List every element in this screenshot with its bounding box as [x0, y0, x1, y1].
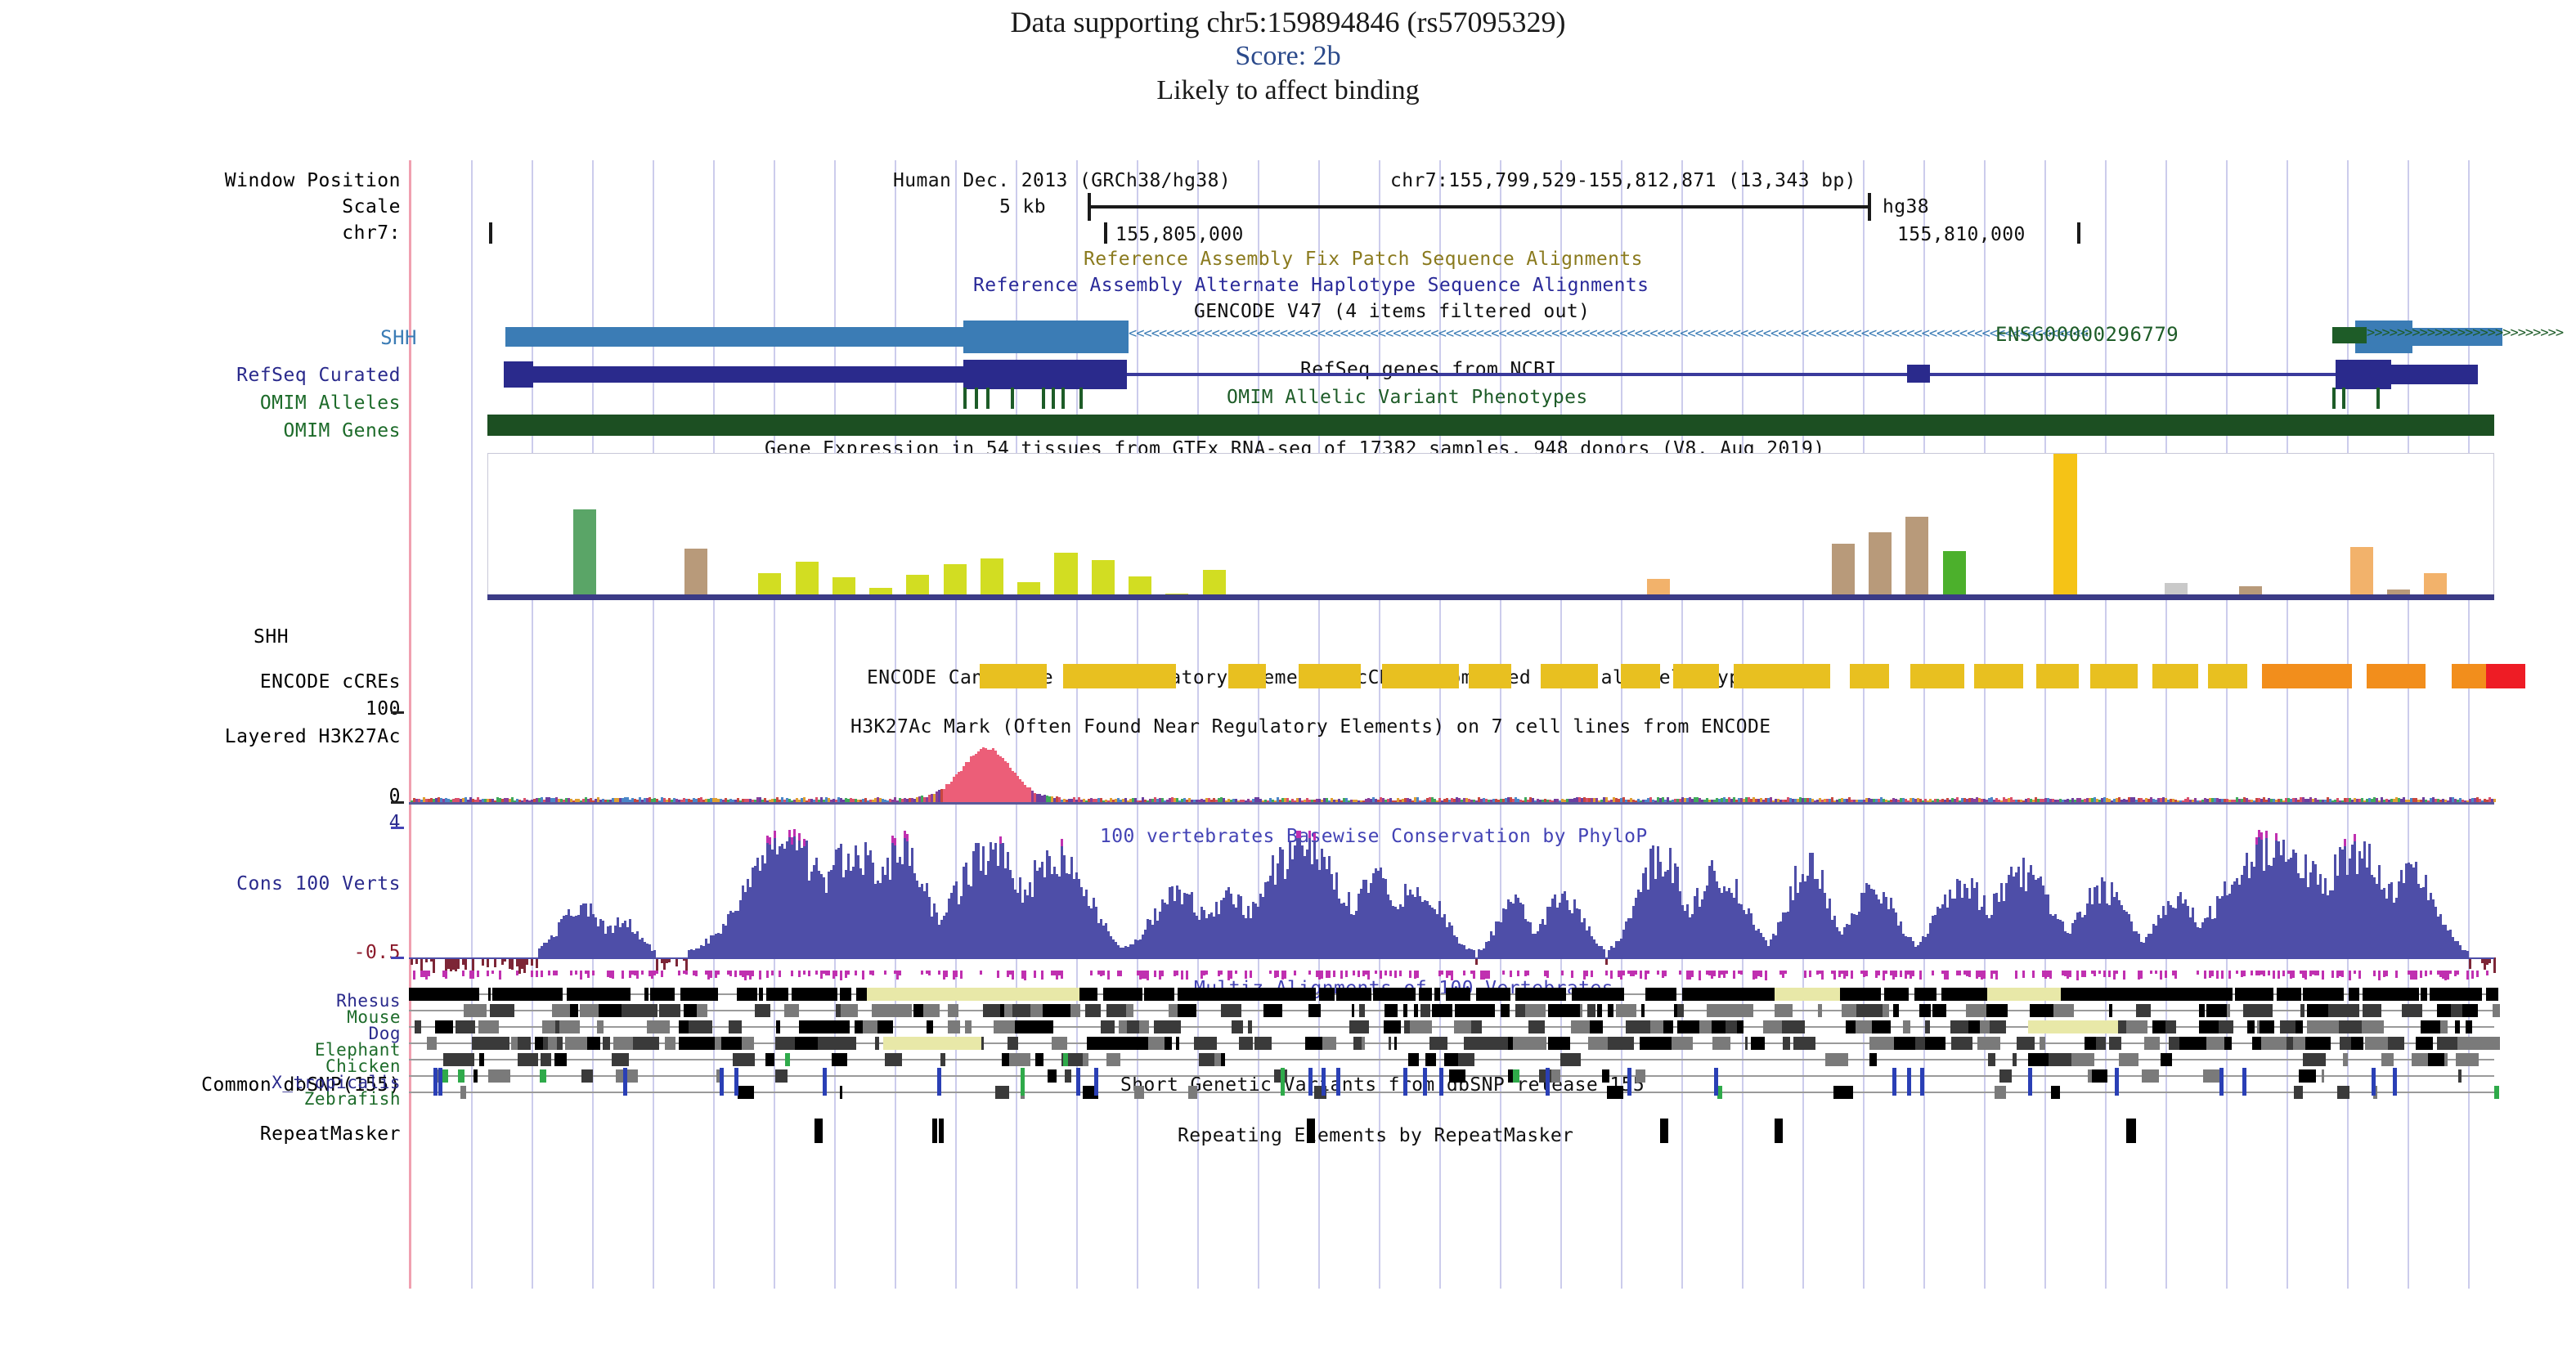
multiz-alignment-block — [2252, 1037, 2261, 1050]
dbsnp-variant-tick[interactable] — [937, 1068, 941, 1096]
gtex-bar[interactable] — [1832, 544, 1855, 599]
label-omim-genes[interactable]: OMIM Genes — [8, 420, 401, 442]
multiz-alignment-block — [1501, 1004, 1510, 1017]
multiz-alignment-block — [679, 1020, 689, 1033]
multiz-frame-marker — [442, 1069, 448, 1083]
multiz-alignment-block — [775, 1037, 795, 1050]
dbsnp-variant-tick[interactable] — [1892, 1068, 1896, 1096]
conservation-magenta-tick — [779, 971, 781, 977]
conservation-magenta-tick — [548, 971, 550, 975]
dbsnp-variant-tick[interactable] — [433, 1068, 438, 1096]
conservation-magenta-tick — [710, 971, 712, 978]
ccre-element[interactable] — [2367, 664, 2426, 688]
multiz-alignment-block — [2040, 1004, 2053, 1017]
multiz-alignment-block — [2440, 1020, 2448, 1033]
multiz-insert-highlight — [883, 1037, 981, 1050]
multiz-alignment-block — [733, 1053, 755, 1066]
multiz-alignment-block — [1572, 988, 1588, 1001]
ccre-element[interactable] — [1910, 664, 1964, 688]
multiz-alignment-block — [548, 1037, 557, 1050]
multiz-alignment-block — [801, 988, 821, 1001]
dbsnp-variant-tick[interactable] — [734, 1068, 738, 1096]
dbsnp-variant-tick[interactable] — [1714, 1068, 1718, 1096]
multiz-alignment-block — [1999, 1069, 2012, 1083]
conservation-cap — [769, 837, 771, 845]
omim-allele-tick[interactable] — [1042, 388, 1045, 409]
multiz-alignment-block — [1221, 1053, 1225, 1066]
conservation-cap — [2354, 834, 2356, 841]
gtex-baseline — [487, 594, 2494, 600]
multiz-alignment-block — [603, 1037, 610, 1050]
dbsnp-variant-tick[interactable] — [1336, 1068, 1340, 1096]
conservation-magenta-tick — [1995, 971, 1998, 980]
multiz-alignment-block — [1738, 988, 1752, 1001]
dbsnp-variant-tick[interactable] — [1076, 1068, 1080, 1096]
gtex-bar[interactable] — [1943, 551, 1966, 599]
dbsnp-variant-tick[interactable] — [1322, 1068, 1326, 1096]
gtex-bar[interactable] — [981, 558, 1003, 599]
refseq-exon-3[interactable] — [2336, 360, 2391, 389]
multiz-alignment-block — [2168, 1053, 2172, 1066]
conservation-magenta-tick — [803, 971, 806, 975]
multiz-alignment-block — [2096, 1037, 2106, 1050]
omim-allele-tick[interactable] — [975, 388, 978, 409]
label-h3k27ac[interactable]: Layered H3K27Ac — [8, 726, 401, 747]
omim-allele-tick[interactable] — [1079, 388, 1083, 409]
multiz-alignment-block — [872, 1004, 892, 1017]
multiz-alignment-block — [692, 1020, 712, 1033]
conservation-magenta-tick — [1269, 971, 1272, 974]
repeat-element[interactable] — [1307, 1119, 1315, 1143]
ccre-element[interactable] — [2036, 664, 2079, 688]
ccre-element[interactable] — [1673, 664, 1719, 688]
dbsnp-variant-tick[interactable] — [1439, 1068, 1443, 1096]
repeat-element[interactable] — [1775, 1119, 1783, 1143]
label-cons-max: 4 — [8, 812, 401, 833]
ccre-element[interactable] — [2262, 664, 2352, 688]
multiz-alignment-block — [1471, 1020, 1482, 1033]
label-repeatmasker[interactable]: RepeatMasker — [8, 1123, 401, 1145]
multiz-alignment-block — [570, 1004, 578, 1017]
conservation-cap — [798, 833, 801, 841]
gene-exon-ensg[interactable] — [2332, 327, 2367, 343]
conservation-negative-bar — [433, 957, 435, 973]
conservation-magenta-tick — [2049, 971, 2052, 979]
multiz-alignment-block — [2480, 1037, 2500, 1050]
conservation-magenta-tick — [1733, 971, 1735, 979]
species-label-zebrafish[interactable]: Zebrafish — [8, 1089, 401, 1109]
multiz-alignment-block — [1130, 988, 1142, 1001]
conservation-cap — [1308, 831, 1311, 838]
multiz-alignment-block — [1168, 1020, 1181, 1033]
multiz-alignment-block — [2303, 988, 2320, 1001]
multiz-alignment-block — [994, 1020, 1012, 1033]
multiz-alignment-block — [1872, 1004, 1883, 1017]
ccre-element[interactable] — [980, 664, 1047, 688]
ccre-element[interactable] — [1299, 664, 1361, 688]
conservation-magenta-tick — [2160, 971, 2162, 980]
conservation-magenta-tick — [2108, 971, 2111, 977]
multiz-alignment-block — [1968, 1020, 1980, 1033]
dbsnp-variant-tick[interactable] — [1094, 1068, 1098, 1096]
conservation-magenta-tick — [1488, 971, 1490, 979]
multiz-alignment-block — [460, 1086, 466, 1099]
dbsnp-variant-tick[interactable] — [623, 1068, 627, 1096]
multiz-alignment-block — [2243, 1004, 2261, 1017]
multiz-alignment-block — [1049, 1004, 1070, 1017]
multiz-alignment-block — [2227, 1004, 2230, 1017]
conservation-magenta-tick — [2243, 971, 2246, 976]
multiz-alignment-block — [1106, 1037, 1120, 1050]
conservation-magenta-tick — [840, 971, 842, 980]
gtex-bar[interactable] — [1905, 517, 1928, 599]
multiz-alignment-block — [2328, 1004, 2337, 1017]
multiz-alignment-block — [2391, 988, 2403, 1001]
dbsnp-variant-tick[interactable] — [438, 1068, 442, 1096]
multiz-alignment-block — [587, 1037, 600, 1050]
repeat-element[interactable] — [939, 1119, 944, 1143]
chrom-start-tick — [489, 222, 492, 244]
axis-tick-h3k27ac-min — [391, 801, 404, 804]
multiz-alignment-block — [2030, 1004, 2040, 1017]
multiz-insert-highlight — [867, 988, 1079, 1001]
conservation-magenta-tick — [555, 971, 558, 975]
multiz-alignment-block — [2071, 988, 2085, 1001]
ccre-element[interactable] — [1974, 664, 2023, 688]
multiz-alignment-block — [1856, 1004, 1872, 1017]
ccre-element[interactable] — [1469, 664, 1511, 688]
multiz-alignment-block — [599, 1004, 622, 1017]
gene-intron-arrows-ensg: >>>>>>>>>>>>>>>>>>>>>>>>>> — [2367, 326, 2576, 340]
ccre-element[interactable] — [1063, 664, 1176, 688]
multiz-alignment-block — [2377, 1020, 2384, 1033]
multiz-alignment-block — [1783, 1037, 1790, 1050]
gtex-bar[interactable] — [1054, 553, 1077, 599]
omim-allele-tick[interactable] — [1061, 388, 1065, 409]
omim-genes-bar[interactable] — [487, 415, 2494, 436]
refseq-exon-2[interactable] — [963, 360, 1127, 389]
multiz-alignment-block — [1650, 1020, 1663, 1033]
conservation-magenta-tick — [1245, 971, 1247, 979]
omim-allele-tick[interactable] — [2376, 388, 2380, 409]
multiz-alignment-block — [1158, 988, 1168, 1001]
multiz-alignment-block — [2466, 1020, 2472, 1033]
label-h3k27ac-min: 0 — [8, 786, 401, 807]
page-title: Data supporting chr5:159894846 (rs570953… — [0, 5, 2576, 39]
conservation-magenta-tick — [1546, 971, 1549, 978]
omim-allele-tick[interactable] — [2342, 388, 2345, 409]
ccre-element[interactable] — [1382, 664, 1459, 688]
scale-label: 5 kb — [999, 196, 1046, 217]
conservation-magenta-tick — [1061, 971, 1063, 979]
conservation-magenta-tick — [1561, 971, 1564, 975]
score-line: Score: 2b — [0, 39, 2576, 73]
ccre-element[interactable] — [1621, 664, 1660, 688]
multiz-alignment-block — [1082, 988, 1097, 1001]
dbsnp-variant-tick[interactable] — [823, 1068, 827, 1096]
conservation-magenta-tick — [2221, 971, 2224, 979]
conservation-magenta-tick — [2076, 971, 2079, 980]
ccre-element[interactable] — [1541, 664, 1598, 688]
conservation-magenta-tick — [1102, 971, 1105, 975]
multiz-alignment-block — [2098, 988, 2117, 1001]
multiz-alignment-block — [626, 1069, 638, 1083]
multiz-insert-highlight — [1775, 988, 1840, 1001]
dbsnp-variant-tick[interactable] — [1907, 1068, 1911, 1096]
label-cons-min: -0.5 — [8, 942, 401, 963]
multiz-alignment-block — [1263, 1004, 1282, 1017]
multiz-alignment-block — [913, 1004, 923, 1017]
multiz-alignment-block — [633, 1037, 642, 1050]
conservation-negative-bar — [511, 957, 514, 970]
conservation-magenta-tick — [1321, 971, 1323, 979]
ccre-element[interactable] — [1734, 664, 1830, 688]
multiz-alignment-block — [691, 1037, 704, 1050]
multiz-alignment-block — [2322, 1069, 2324, 1083]
conservation-magenta-tick — [1865, 971, 1868, 976]
dbsnp-variant-tick[interactable] — [1308, 1068, 1313, 1096]
multiz-alignment-block — [642, 1037, 659, 1050]
multiz-alignment-block — [1030, 1004, 1043, 1017]
conservation-magenta-tick — [1399, 971, 1402, 976]
repeat-element[interactable] — [2126, 1119, 2136, 1143]
ccre-element[interactable] — [2090, 664, 2138, 688]
multiz-alignment-block — [863, 1020, 877, 1033]
multiz-alignment-block — [2224, 1037, 2232, 1050]
multiz-alignment-block — [456, 1020, 475, 1033]
omim-allele-tick[interactable] — [986, 388, 990, 409]
refseq-exon-4[interactable] — [2388, 365, 2478, 384]
multiz-alignment-block — [2215, 1004, 2227, 1017]
multiz-alignment-block — [2294, 1086, 2303, 1099]
multiz-alignment-block — [679, 1037, 691, 1050]
multiz-alignment-block — [470, 988, 479, 1001]
dbsnp-variant-tick[interactable] — [2028, 1068, 2032, 1096]
multiz-alignment-block — [2293, 1037, 2305, 1050]
multiz-alignment-block — [2365, 1037, 2388, 1050]
omim-allele-tick[interactable] — [1052, 388, 1055, 409]
conservation-magenta-tick — [1308, 971, 1311, 975]
gene-exon-shh-1[interactable] — [505, 327, 963, 347]
multiz-alignment-block — [1224, 1004, 1241, 1017]
multiz-alignment-block — [1869, 1053, 1877, 1066]
coord-tick-right — [2077, 222, 2080, 244]
conservation-bar — [1603, 949, 1605, 957]
multiz-alignment-block — [1275, 988, 1295, 1001]
conservation-magenta-tick — [1946, 971, 1949, 980]
multiz-alignment-block — [640, 1004, 657, 1017]
dbsnp-variant-tick[interactable] — [2372, 1068, 2376, 1096]
conservation-magenta-tick — [2341, 971, 2344, 977]
multiz-alignment-block — [1458, 1053, 1474, 1066]
multiz-alignment-block — [1672, 1037, 1693, 1050]
gtex-bar[interactable] — [684, 549, 707, 599]
ccre-element[interactable] — [1228, 664, 1266, 688]
multiz-alignment-block — [1987, 1037, 2000, 1050]
multiz-alignment-block — [2303, 1053, 2326, 1066]
gene-exon-shh-2[interactable] — [963, 321, 1129, 353]
conservation-cap — [2265, 831, 2268, 838]
conservation-magenta-tick — [1012, 971, 1014, 980]
repeat-element[interactable] — [815, 1119, 823, 1143]
label-encode-ccres[interactable]: ENCODE cCREs — [8, 671, 401, 693]
dbsnp-variant-tick[interactable] — [2219, 1068, 2224, 1096]
dbsnp-coding-variant-tick[interactable] — [1281, 1068, 1285, 1096]
multiz-alignment-block — [2144, 1037, 2160, 1050]
conservation-magenta-tick — [2197, 971, 2199, 975]
multiz-alignment-block — [1144, 988, 1158, 1001]
conservation-magenta-tick — [428, 971, 430, 976]
conservation-magenta-tick — [1340, 971, 1343, 979]
dbsnp-coding-variant-tick[interactable] — [1021, 1068, 1025, 1096]
conservation-magenta-tick — [1679, 971, 1681, 975]
multiz-alignment-block — [1214, 1053, 1221, 1066]
multiz-alignment-block — [1434, 988, 1440, 1001]
dbsnp-variant-tick[interactable] — [1920, 1068, 1924, 1096]
label-refseq-curated[interactable]: RefSeq Curated — [8, 365, 401, 386]
conservation-magenta-tick — [1161, 971, 1164, 976]
conservation-magenta-tick — [1090, 971, 1093, 975]
repeat-element[interactable] — [932, 1119, 937, 1143]
multiz-alignment-block — [1395, 988, 1416, 1001]
multiz-alignment-block — [721, 1037, 742, 1050]
dbsnp-variant-tick[interactable] — [1546, 1068, 1550, 1096]
multiz-alignment-block — [1630, 1037, 1634, 1050]
conservation-magenta-tick — [980, 971, 982, 975]
dbsnp-variant-tick[interactable] — [2115, 1068, 2119, 1096]
multiz-alignment-block — [473, 1069, 478, 1083]
refseq-exon-1[interactable] — [507, 366, 965, 383]
multiz-alignment-block — [2349, 988, 2359, 1001]
multiz-alignment-block — [715, 1037, 721, 1050]
multiz-alignment-block — [844, 1037, 856, 1050]
conservation-magenta-tick — [1895, 971, 1897, 977]
conservation-magenta-tick — [1107, 971, 1110, 980]
conservation-magenta-tick — [2084, 971, 2086, 977]
dbsnp-variant-tick[interactable] — [2242, 1068, 2246, 1096]
gtex-bar[interactable] — [1092, 560, 1115, 599]
dbsnp-variant-tick[interactable] — [720, 1068, 724, 1096]
conservation-magenta-tick — [1389, 971, 1392, 976]
multiz-alignment-block — [875, 1037, 879, 1050]
conservation-magenta-tick — [1809, 971, 1811, 977]
genome-browser-image[interactable]: Window Position Scale chr7: RefSeq Curat… — [0, 160, 2576, 1346]
multiz-alignment-block — [948, 1004, 958, 1017]
multiz-alignment-block — [792, 988, 801, 1001]
conservation-cap — [2275, 833, 2278, 841]
conservation-magenta-tick — [1041, 971, 1043, 980]
ccre-element[interactable] — [2208, 664, 2247, 688]
conservation-magenta-tick — [759, 971, 761, 980]
multiz-alignment-block — [2337, 1086, 2349, 1099]
ccre-element[interactable] — [2486, 664, 2525, 688]
omim-allele-tick[interactable] — [1011, 388, 1014, 409]
dbsnp-variant-tick[interactable] — [1403, 1068, 1407, 1096]
conservation-magenta-tick — [862, 971, 864, 980]
multiz-alignment-block — [1239, 1037, 1253, 1050]
multiz-alignment-block — [1554, 988, 1566, 1001]
ccre-element[interactable] — [2152, 664, 2198, 688]
multiz-alignment-block — [542, 1020, 555, 1033]
multiz-alignment-block — [1404, 1020, 1410, 1033]
dbsnp-variant-tick[interactable] — [2393, 1068, 2397, 1096]
multiz-alignment-block — [1154, 1020, 1168, 1033]
conservation-magenta-tick — [2123, 971, 2125, 980]
multiz-alignment-block — [1232, 988, 1244, 1001]
label-cons[interactable]: Cons 100 Verts — [8, 873, 401, 894]
multiz-alignment-block — [1712, 1037, 1730, 1050]
omim-allele-tick[interactable] — [2332, 388, 2336, 409]
h3k27ac-baseline — [409, 802, 2494, 805]
label-h3k27ac-max: 100 — [8, 698, 401, 720]
conservation-magenta-tick — [1657, 971, 1659, 975]
multiz-alignment-block — [799, 1020, 806, 1033]
multiz-alignment-block — [1012, 1004, 1030, 1017]
conservation-magenta-tick — [2420, 971, 2422, 978]
conservation-magenta-tick — [2449, 971, 2452, 974]
conservation-magenta-tick — [487, 971, 489, 976]
dbsnp-variant-tick[interactable] — [1423, 1068, 1427, 1096]
multiz-alignment-block — [1535, 1037, 1546, 1050]
multiz-alignment-block — [650, 988, 656, 1001]
multiz-alignment-block — [1548, 1037, 1570, 1050]
repeat-element[interactable] — [1660, 1119, 1668, 1143]
gtex-bar[interactable] — [2350, 547, 2373, 599]
conservation-magenta-tick — [1713, 971, 1716, 976]
conservation-magenta-tick — [1647, 971, 1649, 974]
multiz-alignment-block — [2053, 1004, 2074, 1017]
multiz-alignment-block — [1192, 988, 1200, 1001]
multiz-alignment-block — [1403, 1004, 1407, 1017]
multiz-alignment-block — [855, 1020, 863, 1033]
gene-label-shh[interactable]: SHH — [270, 326, 417, 349]
conservation-magenta-tick — [2098, 971, 2101, 974]
gtex-bar[interactable] — [573, 509, 596, 599]
multiz-alignment-block — [2287, 1037, 2293, 1050]
refseq-exon-small[interactable] — [1907, 365, 1930, 383]
conservation-magenta-tick — [592, 971, 595, 975]
multiz-alignment-block — [1384, 1004, 1398, 1017]
gtex-bar[interactable] — [2053, 454, 2076, 599]
conservation-magenta-tick — [1885, 971, 1887, 974]
multiz-alignment-block — [2028, 1053, 2049, 1066]
omim-allele-tick[interactable] — [963, 388, 967, 409]
multiz-alignment-block — [1127, 1020, 1139, 1033]
ccre-element[interactable] — [1850, 664, 1889, 688]
multiz-alignment-block — [1632, 1020, 1650, 1033]
conservation-magenta-tick — [1571, 971, 1573, 978]
gtex-expression-plot[interactable] — [487, 453, 2494, 600]
conservation-magenta-tick — [2486, 971, 2488, 975]
label-omim-alleles[interactable]: OMIM Alleles — [8, 392, 401, 414]
multiz-alignment-block — [2493, 988, 2498, 1001]
conservation-bar — [1473, 950, 1475, 957]
caption-phylop: 100 vertebrates Basewise Conservation by… — [1100, 826, 1648, 847]
multiz-alignment-block — [1535, 1004, 1546, 1017]
multiz-alignment-block — [622, 1004, 640, 1017]
multiz-alignment-block — [2184, 1037, 2206, 1050]
multiz-alignment-block — [1883, 1004, 1889, 1017]
assembly-name: Human Dec. 2013 (GRCh38/hg38) — [893, 170, 1231, 191]
multiz-alignment-block — [1564, 1004, 1580, 1017]
multiz-alignment-block — [1360, 988, 1371, 1001]
multiz-alignment-block — [541, 1053, 551, 1066]
dbsnp-variant-tick[interactable] — [1627, 1068, 1631, 1096]
multiz-alignment-block — [492, 988, 505, 1001]
conservation-magenta-tick — [587, 971, 590, 978]
gene-label-ensg[interactable]: ENSG00000296779 — [1995, 323, 2372, 346]
gtex-bar[interactable] — [1869, 532, 1892, 599]
